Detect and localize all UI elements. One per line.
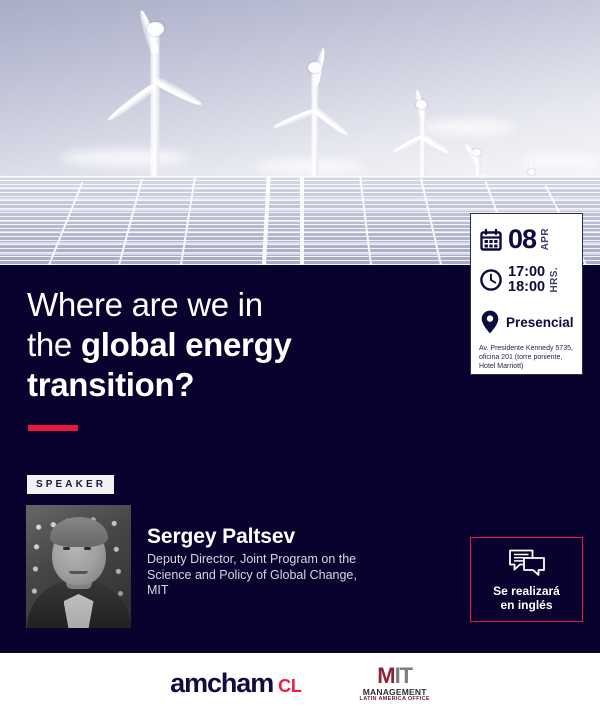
event-time: 17:00 18:00 — [508, 265, 545, 295]
event-place-row: Presencial — [479, 309, 575, 335]
event-day: 08 — [508, 226, 536, 253]
mit-letter-m: M — [377, 663, 394, 688]
footer-logos: amcham CL MIT MANAGEMENT LATIN AMERICA O… — [0, 653, 600, 714]
wind-turbine-icon — [75, 0, 235, 185]
language-notice-text: Se realizará en inglés — [493, 584, 560, 612]
event-time-row: 17:00 18:00 HRS. — [479, 265, 575, 295]
amcham-wordmark: amcham — [170, 668, 273, 699]
mit-management-logo: MIT MANAGEMENT LATIN AMERICA OFFICE — [360, 665, 430, 703]
mit-office-text: LATIN AMERICA OFFICE — [360, 697, 430, 703]
event-time-start: 17:00 — [508, 264, 545, 280]
calendar-icon — [479, 228, 503, 252]
amcham-logo: amcham CL — [170, 668, 301, 699]
event-month: APR — [541, 228, 551, 250]
event-time-end: 18:00 — [508, 279, 545, 295]
wind-turbine-icon — [255, 45, 375, 195]
event-date-row: 08 APR — [479, 226, 575, 253]
avatar — [26, 505, 131, 628]
map-pin-icon — [479, 309, 501, 335]
page-title: Where are we in the global energy transi… — [27, 285, 427, 405]
mit-letters-it: IT — [395, 663, 413, 688]
event-address: Av. Presidente Kennedy 5735, oficina 201… — [479, 344, 575, 371]
event-time-unit: HRS. — [550, 267, 560, 293]
amcham-country-suffix: CL — [278, 676, 301, 697]
speaker-name: Sergey Paltsev — [147, 525, 295, 549]
language-notice-box: Se realizará en inglés — [470, 537, 583, 622]
speech-bubbles-icon — [507, 548, 547, 578]
headline-line-1: Where are we in — [27, 286, 263, 323]
language-line-1: Se realizará — [493, 584, 560, 598]
clock-icon — [479, 268, 503, 292]
accent-divider — [28, 425, 78, 431]
event-place-label: Presencial — [506, 315, 574, 330]
speaker-title: Deputy Director, Joint Program on the Sc… — [147, 552, 377, 599]
event-poster: Where are we in the global energy transi… — [0, 0, 600, 714]
headline-line-2-light: the — [27, 326, 81, 363]
language-line-2: en inglés — [500, 598, 552, 612]
speaker-badge: SPEAKER — [27, 475, 114, 494]
headline-line-3-bold: transition? — [27, 366, 194, 403]
event-info-card: 08 APR 17:00 18:00 HRS. Presencial Av. P… — [470, 213, 583, 375]
mit-management-text: MANAGEMENT — [360, 688, 430, 697]
headline-line-2-bold: global energy — [81, 326, 292, 363]
mit-wordmark: MIT — [360, 665, 430, 687]
